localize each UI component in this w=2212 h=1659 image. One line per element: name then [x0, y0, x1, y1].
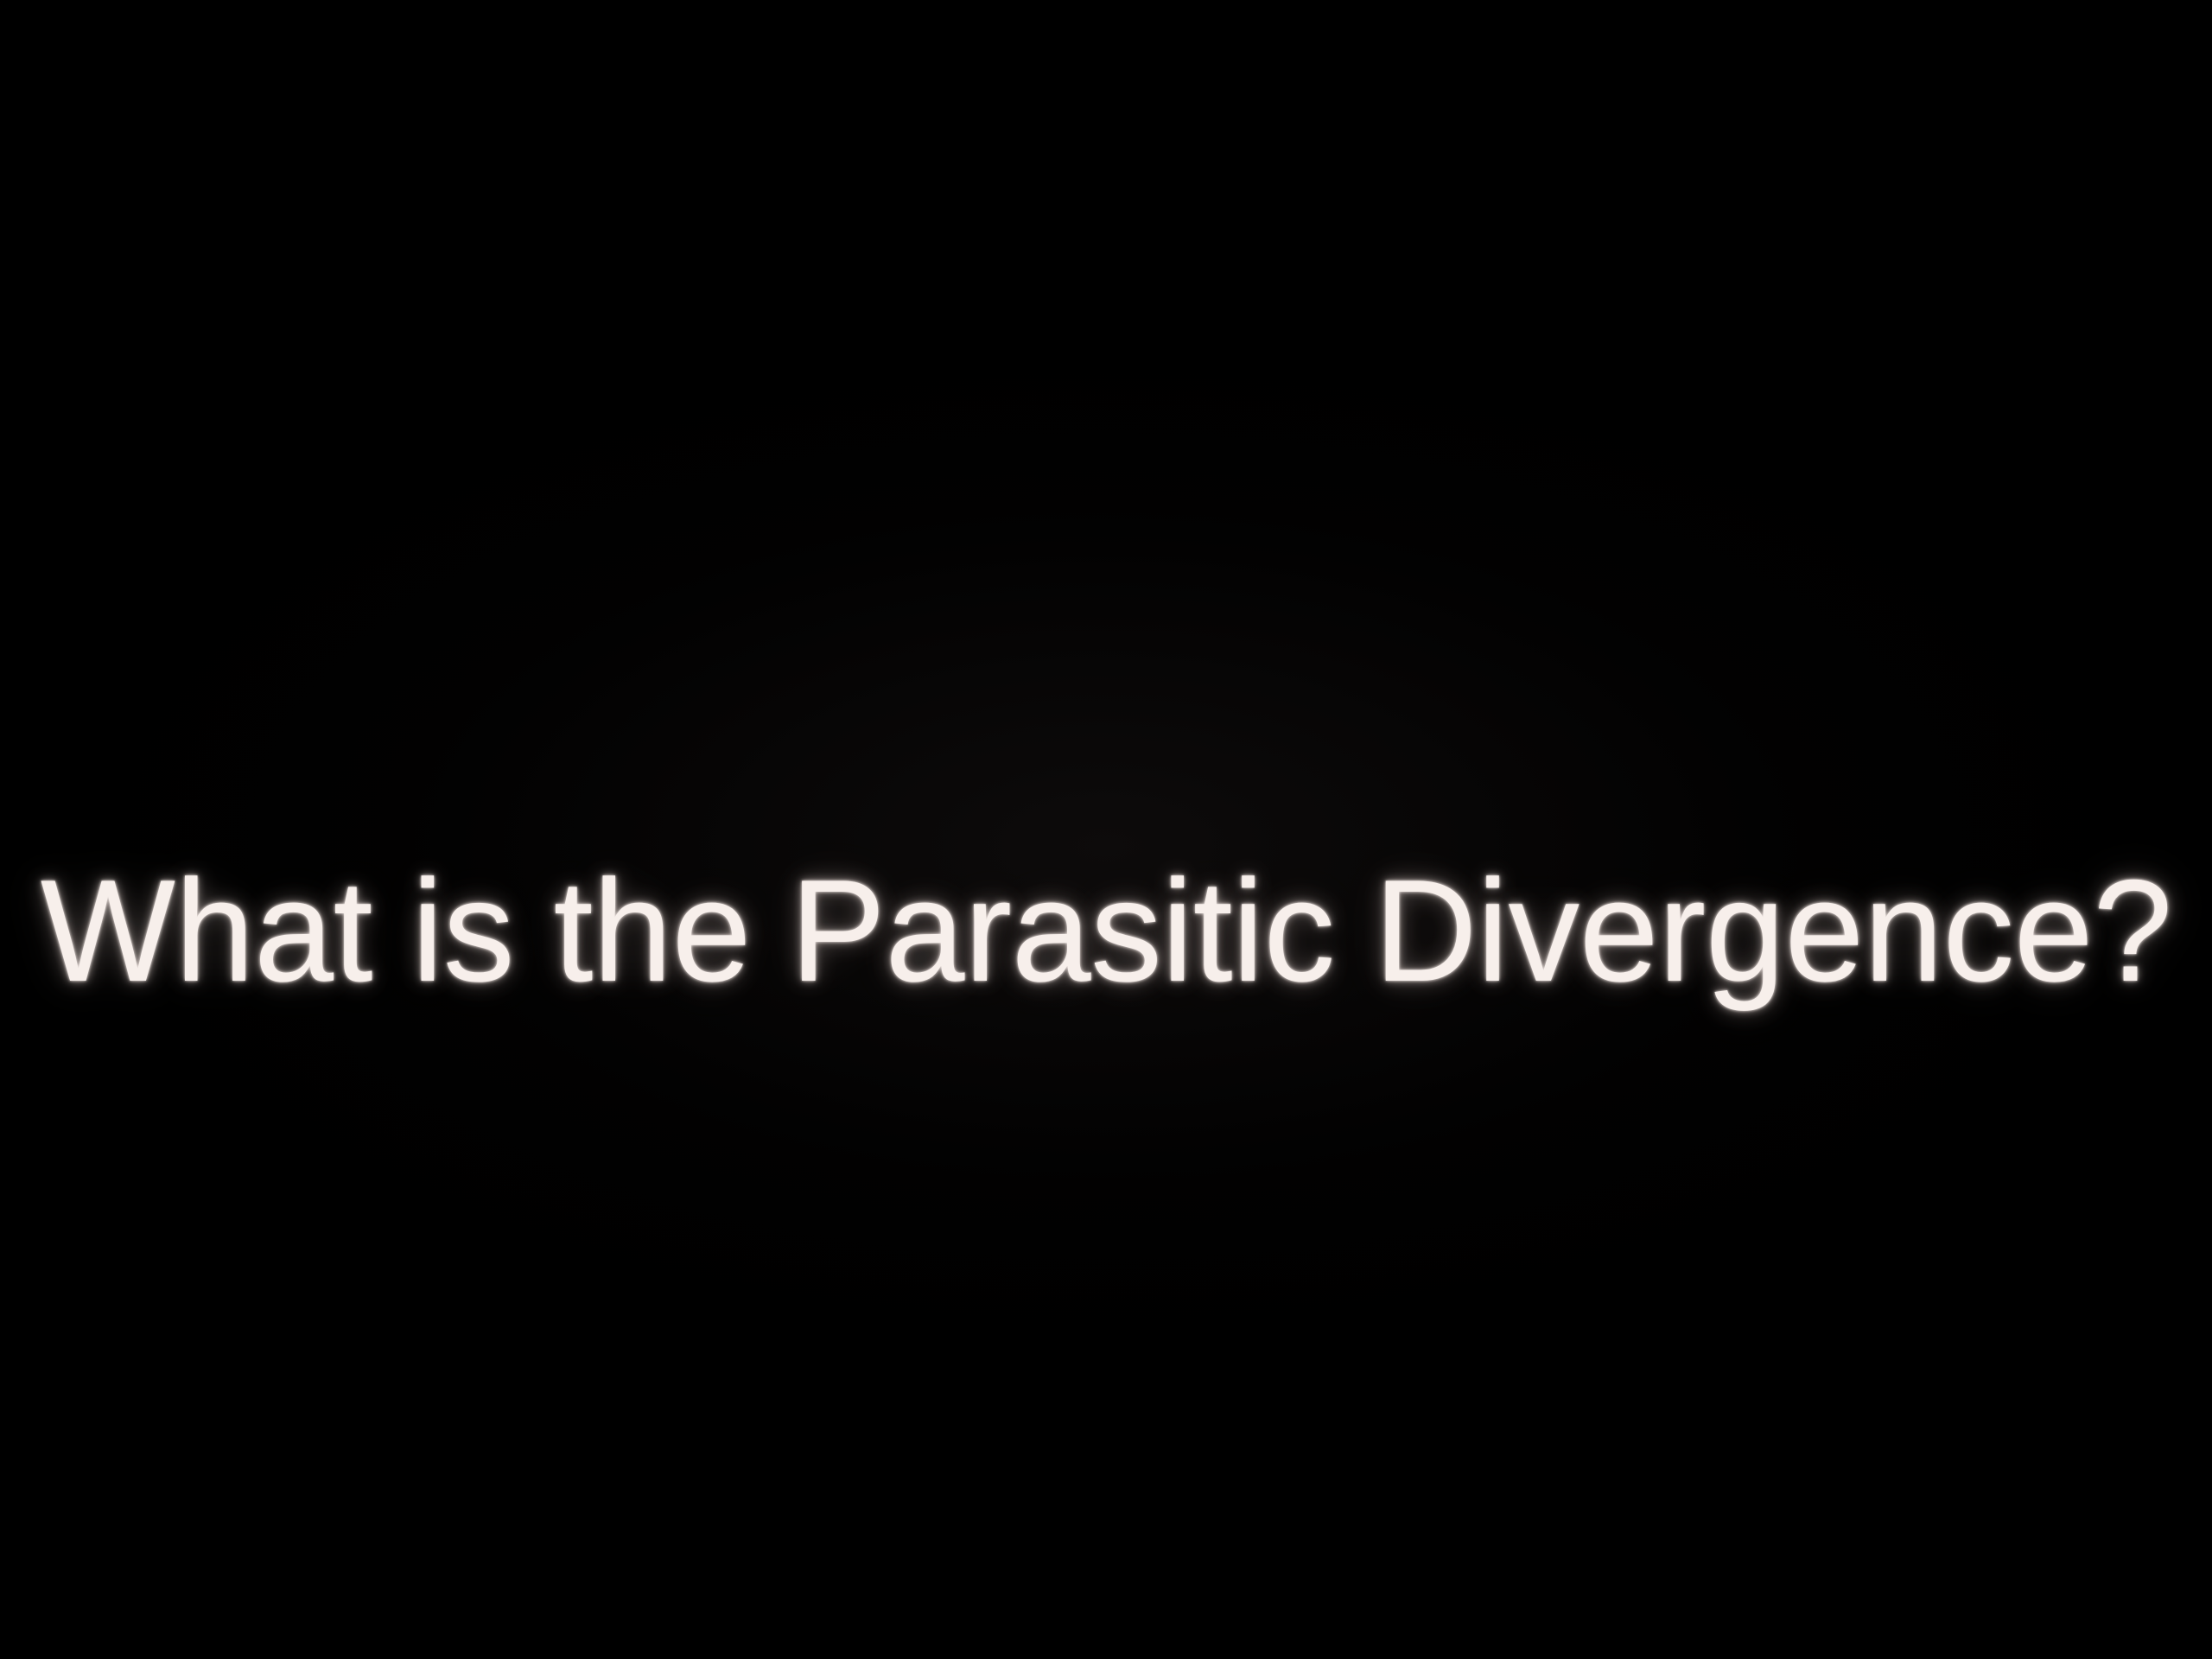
title-card-slide: What is the Parasitic Divergence?: [0, 0, 2212, 1659]
title-container: What is the Parasitic Divergence?: [0, 760, 2212, 933]
slide-title: What is the Parasitic Divergence?: [40, 858, 2171, 1003]
